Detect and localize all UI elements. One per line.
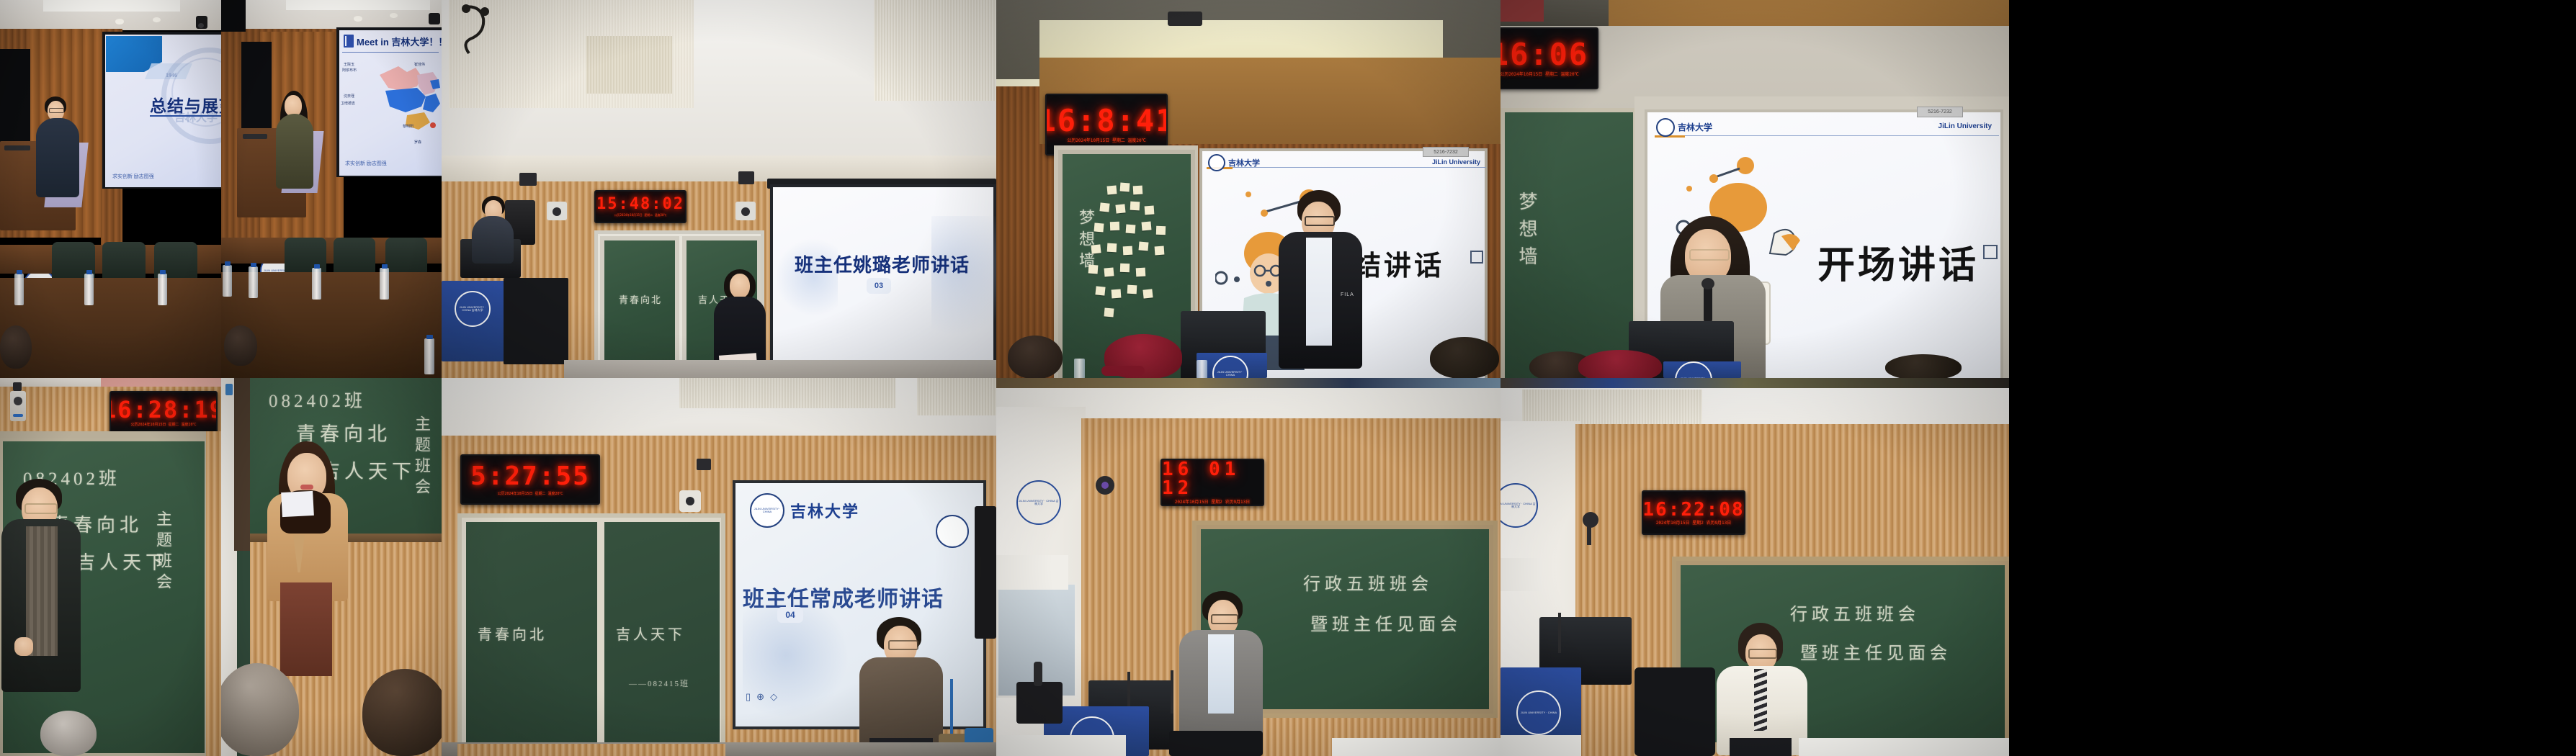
photo-collage: 1946 吉林大学 总结与展望 求实创新 励志图强 JILIN UNIVERSI… <box>0 0 2576 756</box>
panel-8-classroom-changcheng[interactable]: 5:27:55 公历2024年10月15日 星期二 温度20℃ 青春向北 吉人天… <box>442 378 996 756</box>
panel-7-student-presenting[interactable]: 082402班 青春向北 吉人天下 主题班会 <box>221 378 442 756</box>
panel-3-classroom-yaolu[interactable]: 15:48:02 公历2024年10月15日 星期二 温度20℃ 青春向北 吉人… <box>442 0 996 378</box>
vignette <box>996 378 1501 756</box>
vignette <box>1501 378 2009 756</box>
panel-5-classroom-opening[interactable]: 梦想墙 16:06 公历2024年10月15日 星期二 温度20℃ 5216-7… <box>1501 0 2009 378</box>
vignette <box>442 0 996 378</box>
vignette <box>0 0 221 378</box>
collage-row-1: 1946 吉林大学 总结与展望 求实创新 励志图强 JILIN UNIVERSI… <box>0 0 2576 378</box>
panel-4-classroom-summary[interactable]: 16:8:41 公历2024年10月15日 星期二 温度20℃ 梦想墙 <box>996 0 1501 378</box>
vignette <box>221 0 442 378</box>
vignette <box>1501 0 2009 378</box>
panel-9-admin-class5-male[interactable]: JILIN UNIVERSITY · CHINA 吉林大学 16 01 12 2… <box>996 378 1501 756</box>
vignette <box>996 0 1501 378</box>
panel-1-auditorium-summary[interactable]: 1946 吉林大学 总结与展望 求实创新 励志图强 JILIN UNIVERSI… <box>0 0 221 378</box>
vignette <box>221 378 442 756</box>
vignette <box>0 378 221 756</box>
collage-row-2: 16:28:19 公历2024年10月15日 星期二 温度20℃ 082402班… <box>0 378 2576 756</box>
panel-6-chalkboard-082402[interactable]: 16:28:19 公历2024年10月15日 星期二 温度20℃ 082402班… <box>0 378 221 756</box>
panel-2-auditorium-meet[interactable]: Meet in 吉林大学！！！ 王院玉 阿依布布 崔佳伟 沈奈瑾 卫增德吉 黎 <box>221 0 442 378</box>
panel-10-admin-class5-female[interactable]: JILIN UNIVERSITY · CHINA 吉林大学 16:22:08 2… <box>1501 378 2009 756</box>
vignette <box>442 378 996 756</box>
